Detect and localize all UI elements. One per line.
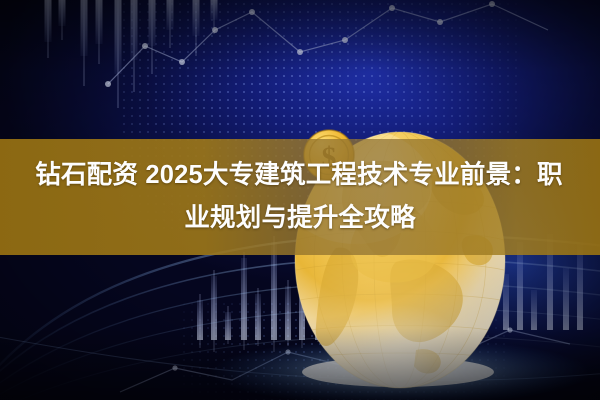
banner-image: $ 钻石配资 2025大专建筑工程技术专业前景：职 业规划与提升全攻略: [0, 0, 600, 400]
headline-line-2: 业规划与提升全攻略: [184, 197, 415, 240]
headline-line-1: 钻石配资 2025大专建筑工程技术专业前景：职: [35, 154, 562, 197]
headline: 钻石配资 2025大专建筑工程技术专业前景：职 业规划与提升全攻略: [0, 139, 600, 255]
